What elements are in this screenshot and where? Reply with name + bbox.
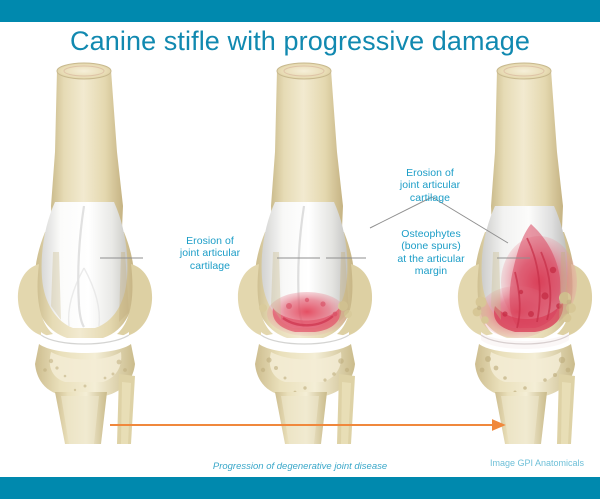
image-credit: Image GPI Anatomicals [490, 458, 584, 468]
annotation-line: joint articular [372, 179, 488, 191]
annotation-line: at the articular [370, 253, 492, 265]
annotation-erosion-left: Erosion of joint articular cartilage [152, 235, 268, 272]
top-accent-band [0, 0, 600, 22]
annotation-line: Erosion of [152, 235, 268, 247]
annotation-line: cartilage [152, 260, 268, 272]
illustration-canvas: Canine stifle with progressive damage [0, 0, 600, 499]
annotation-line: Osteophytes [370, 228, 492, 240]
page-title: Canine stifle with progressive damage [0, 26, 600, 57]
specimen-healthy-stifle [0, 56, 175, 446]
annotation-line: (bone spurs) [370, 240, 492, 252]
annotation-line: joint articular [152, 247, 268, 259]
annotation-line: Erosion of [372, 167, 488, 179]
annotation-line: cartilage [372, 192, 488, 204]
annotation-osteophytes: Osteophytes (bone spurs) at the articula… [370, 228, 492, 278]
annotation-erosion-right: Erosion of joint articular cartilage [372, 167, 488, 204]
annotation-line: margin [370, 265, 492, 277]
bottom-accent-band [0, 477, 600, 499]
healthy-stifle-graphic [0, 56, 175, 446]
